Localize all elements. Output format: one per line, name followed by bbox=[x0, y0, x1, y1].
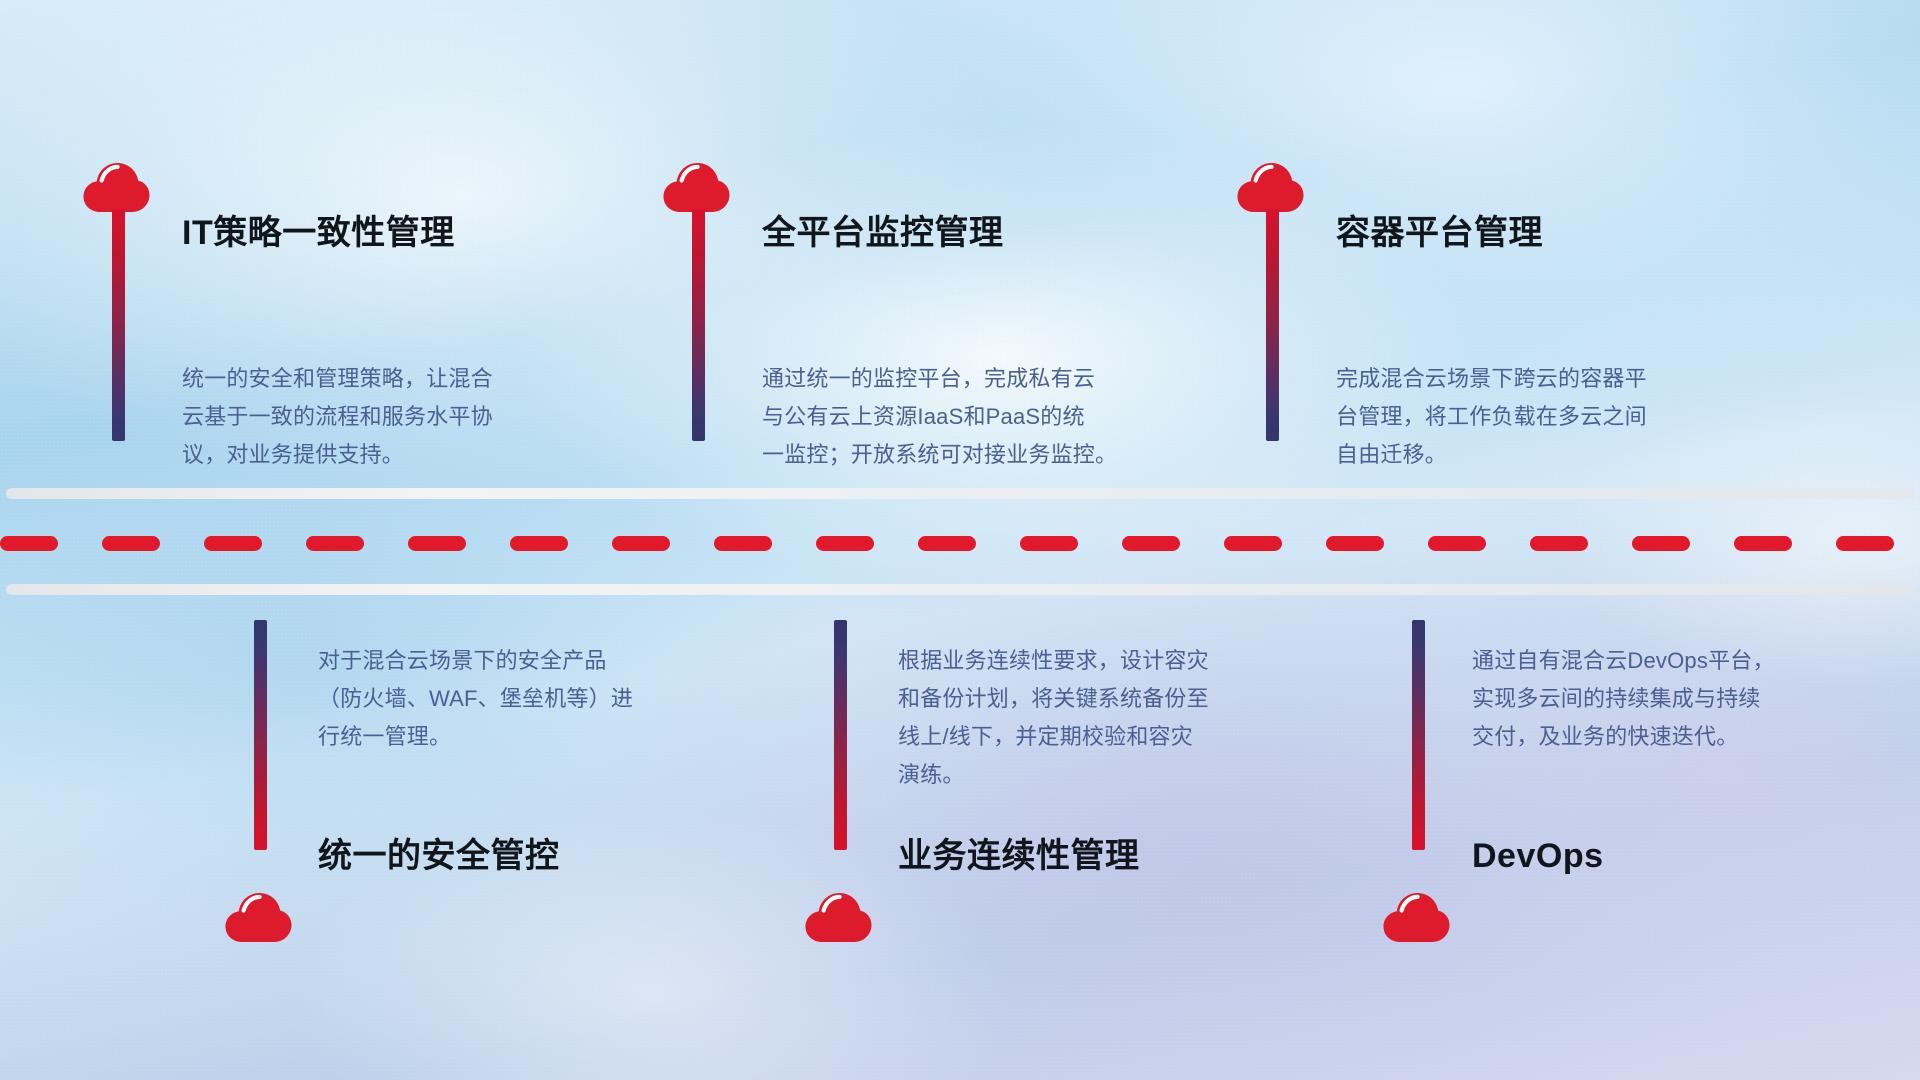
top-body-2: 通过统一的监控平台，完成私有云 与公有云上资源IaaS和PaaS的统 一监控；开… bbox=[762, 360, 1212, 474]
top-body-1: 统一的安全和管理策略，让混合 云基于一致的流程和服务水平协 议，对业务提供支持。 bbox=[182, 360, 612, 474]
bottom-body-3: 通过自有混合云DevOps平台， 实现多云间的持续集成与持续 交付，及业务的快速… bbox=[1472, 642, 1892, 756]
bottom-heading-1: 统一的安全管控 bbox=[318, 838, 560, 875]
body-line: 根据业务连续性要求，设计容灾 bbox=[898, 642, 1328, 680]
bottom-body-1: 对于混合云场景下的安全产品 （防火墙、WAF、堡垒机等）进 行统一管理。 bbox=[318, 642, 738, 756]
body-line: 实现多云间的持续集成与持续 bbox=[1472, 680, 1892, 718]
divider-dash bbox=[306, 536, 364, 551]
divider-dash bbox=[0, 536, 58, 551]
body-line: 统一的安全和管理策略，让混合 bbox=[182, 360, 612, 398]
divider-dash bbox=[1326, 536, 1384, 551]
connector-stem bbox=[112, 209, 125, 441]
divider-dash bbox=[612, 536, 670, 551]
divider-dash bbox=[1020, 536, 1078, 551]
divider-dash bbox=[1530, 536, 1588, 551]
top-heading-3: 容器平台管理 bbox=[1336, 215, 1543, 252]
body-line: 交付，及业务的快速迭代。 bbox=[1472, 718, 1892, 756]
body-line: 对于混合云场景下的安全产品 bbox=[318, 642, 738, 680]
connector-stem bbox=[834, 620, 847, 850]
body-line: 通过统一的监控平台，完成私有云 bbox=[762, 360, 1212, 398]
bottom-body-2: 根据业务连续性要求，设计容灾 和备份计划，将关键系统备份至 线上/线下，并定期校… bbox=[898, 642, 1328, 794]
divider-dash bbox=[1122, 536, 1180, 551]
divider-rail-bottom bbox=[6, 584, 1914, 595]
body-line: 行统一管理。 bbox=[318, 718, 738, 756]
divider-dash bbox=[408, 536, 466, 551]
cloud-icon bbox=[1382, 890, 1450, 944]
body-line: 演练。 bbox=[898, 756, 1328, 794]
connector-stem bbox=[1412, 620, 1425, 850]
hybrid-cloud-divider bbox=[0, 488, 1920, 598]
body-line: 与公有云上资源IaaS和PaaS的统 bbox=[762, 398, 1212, 436]
connector-stem bbox=[1266, 209, 1279, 441]
bottom-heading-2: 业务连续性管理 bbox=[898, 838, 1140, 875]
body-line: 和备份计划，将关键系统备份至 bbox=[898, 680, 1328, 718]
divider-dash bbox=[1836, 536, 1894, 551]
body-line: 台管理，将工作负载在多云之间 bbox=[1336, 398, 1766, 436]
divider-dash bbox=[816, 536, 874, 551]
divider-dash bbox=[1428, 536, 1486, 551]
connector-stem bbox=[692, 209, 705, 441]
bottom-heading-3: DevOps bbox=[1472, 838, 1604, 875]
divider-dash bbox=[1734, 536, 1792, 551]
body-line: 自由迁移。 bbox=[1336, 436, 1766, 474]
body-line: （防火墙、WAF、堡垒机等）进 bbox=[318, 680, 738, 718]
divider-dash bbox=[918, 536, 976, 551]
cloud-icon bbox=[224, 890, 292, 944]
divider-dash bbox=[510, 536, 568, 551]
divider-dash bbox=[1224, 536, 1282, 551]
top-heading-2: 全平台监控管理 bbox=[762, 215, 1004, 252]
cloud-icon bbox=[804, 890, 872, 944]
top-heading-1: IT策略一致性管理 bbox=[182, 215, 455, 252]
cloud-icon bbox=[662, 160, 730, 214]
cloud-icon bbox=[1236, 160, 1304, 214]
cloud-icon bbox=[82, 160, 150, 214]
divider-dash bbox=[102, 536, 160, 551]
divider-dash bbox=[204, 536, 262, 551]
body-line: 议，对业务提供支持。 bbox=[182, 436, 612, 474]
infographic-canvas: IT策略一致性管理 统一的安全和管理策略，让混合 云基于一致的流程和服务水平协 … bbox=[0, 0, 1920, 1080]
divider-dash bbox=[1632, 536, 1690, 551]
body-line: 云基于一致的流程和服务水平协 bbox=[182, 398, 612, 436]
divider-dash bbox=[714, 536, 772, 551]
divider-rail-top bbox=[6, 488, 1914, 499]
body-line: 一监控；开放系统可对接业务监控。 bbox=[762, 436, 1212, 474]
top-body-3: 完成混合云场景下跨云的容器平 台管理，将工作负载在多云之间 自由迁移。 bbox=[1336, 360, 1766, 474]
body-line: 完成混合云场景下跨云的容器平 bbox=[1336, 360, 1766, 398]
body-line: 通过自有混合云DevOps平台， bbox=[1472, 642, 1892, 680]
divider-dashed-line bbox=[0, 535, 1920, 551]
body-line: 线上/线下，并定期校验和容灾 bbox=[898, 718, 1328, 756]
connector-stem bbox=[254, 620, 267, 850]
